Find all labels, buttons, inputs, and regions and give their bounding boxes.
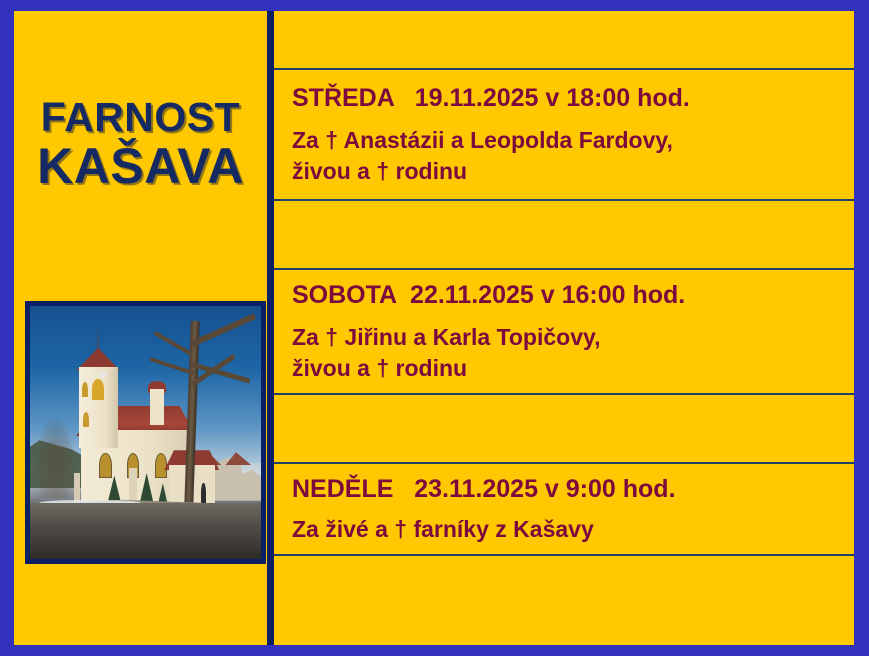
parish-title-block: FARNOST KAŠAVA (14, 11, 267, 279)
photo-road (30, 503, 261, 559)
schedule-event-row-1: STŘEDA 19.11.2025 v 18:00 hod. Za † Anas… (274, 68, 854, 199)
church-photo-frame (25, 301, 266, 564)
event-intention-3-line-1: Za živé a † farníky z Kašavy (292, 514, 854, 544)
schedule-spacer-bottom (274, 554, 854, 643)
parish-title-line-1: FARNOST (41, 96, 240, 140)
schedule-rows: STŘEDA 19.11.2025 v 18:00 hod. Za † Anas… (274, 11, 854, 645)
event-intention-3: Za živé a † farníky z Kašavy (292, 514, 854, 544)
event-intention-1-line-1: Za † Anastázii a Leopolda Fardovy, (292, 125, 854, 155)
notice-table: FARNOST KAŠAVA (14, 11, 854, 645)
parish-notice-poster: FARNOST KAŠAVA (0, 0, 869, 656)
schedule-event-row-2: SOBOTA 22.11.2025 v 16:00 hod. Za † Jiři… (274, 268, 854, 393)
photo-tower-window-lower (83, 412, 89, 427)
photo-tower-belfry-window (92, 379, 104, 399)
schedule-gap-row-2 (274, 393, 854, 462)
schedule-spacer-top (274, 11, 854, 68)
event-heading-2: SOBOTA 22.11.2025 v 16:00 hod. (292, 280, 854, 310)
church-photo (30, 306, 261, 559)
photo-nave-window-3 (155, 453, 167, 478)
photo-tree-left (35, 417, 77, 498)
event-intention-2-line-2: živou a † rodinu (292, 353, 854, 383)
column-divider (267, 11, 274, 645)
schedule-event-row-3: NEDĚLE 23.11.2025 v 9:00 hod. Za živé a … (274, 462, 854, 554)
photo-tower-clock (99, 371, 106, 380)
event-heading-1: STŘEDA 19.11.2025 v 18:00 hod. (292, 83, 854, 113)
photo-tower-window-upper (82, 382, 88, 397)
photo-turret (150, 389, 164, 424)
mass-schedule-column: STŘEDA 19.11.2025 v 18:00 hod. Za † Anas… (267, 11, 854, 645)
parish-identity-column: FARNOST KAŠAVA (14, 11, 267, 645)
event-heading-3: NEDĚLE 23.11.2025 v 9:00 hod. (292, 474, 854, 504)
parish-title-line-2: KAŠAVA (37, 140, 244, 194)
event-intention-1-line-2: živou a † rodinu (292, 156, 854, 186)
event-intention-1: Za † Anastázii a Leopolda Fardovy, živou… (292, 125, 854, 186)
event-intention-2-line-1: Za † Jiřinu a Karla Topičovy, (292, 322, 854, 352)
photo-nave-window-1 (99, 453, 111, 478)
event-intention-2: Za † Jiřinu a Karla Topičovy, živou a † … (292, 322, 854, 383)
schedule-gap-row-1 (274, 199, 854, 268)
